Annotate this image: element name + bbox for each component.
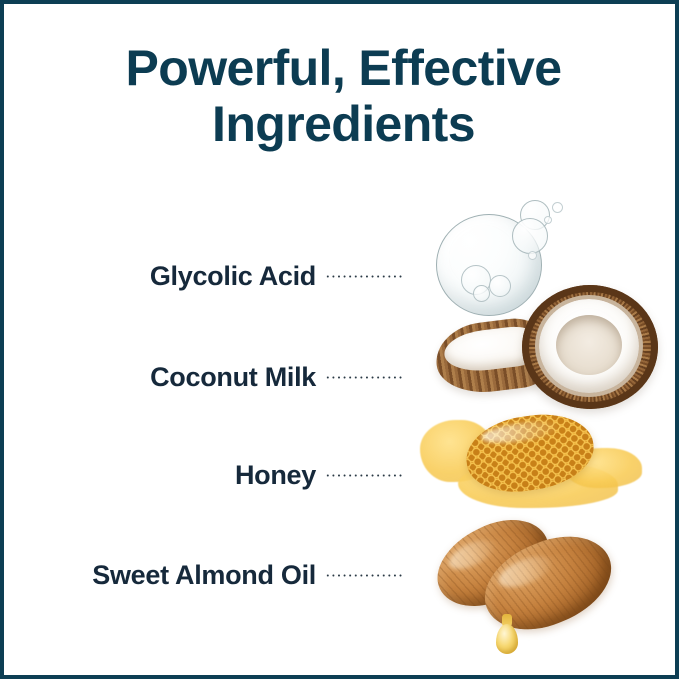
floating-bubble-4 xyxy=(544,216,552,224)
floating-bubble-3 xyxy=(552,202,563,213)
page-title-line-2: Ingredients xyxy=(60,96,627,152)
oil-droplet xyxy=(496,624,518,654)
cracked-coconut-halves-image xyxy=(432,279,679,399)
ingredients-infographic-card: Powerful, Effective Ingredients Glycolic… xyxy=(0,0,679,679)
ingredient-row-glycolic-acid: Glycolic Acid xyxy=(4,256,404,296)
coconut-half xyxy=(522,285,658,409)
floating-bubble-5 xyxy=(528,251,537,260)
ingredient-label: Honey xyxy=(4,460,316,491)
ingredient-row-coconut-milk: Coconut Milk xyxy=(4,357,404,397)
honeycomb-with-honey-pool-image xyxy=(414,402,664,527)
page-title-line-1: Powerful, Effective xyxy=(60,40,627,96)
page-title: Powerful, Effective Ingredients xyxy=(4,40,679,152)
ingredient-label: Sweet Almond Oil xyxy=(4,560,316,591)
ingredient-images-column xyxy=(404,174,679,674)
almonds-with-oil-droplet-image xyxy=(430,514,660,664)
dotted-leader xyxy=(325,376,403,379)
floating-bubble-2 xyxy=(512,218,548,254)
dotted-leader xyxy=(325,474,403,477)
ingredient-row-honey: Honey xyxy=(4,455,404,495)
dotted-leader xyxy=(325,275,403,278)
coconut-cavity xyxy=(556,315,622,375)
dotted-leader xyxy=(325,574,403,577)
ingredient-row-sweet-almond-oil: Sweet Almond Oil xyxy=(4,555,404,595)
ingredient-label: Glycolic Acid xyxy=(4,261,316,292)
ingredient-label: Coconut Milk xyxy=(4,362,316,393)
